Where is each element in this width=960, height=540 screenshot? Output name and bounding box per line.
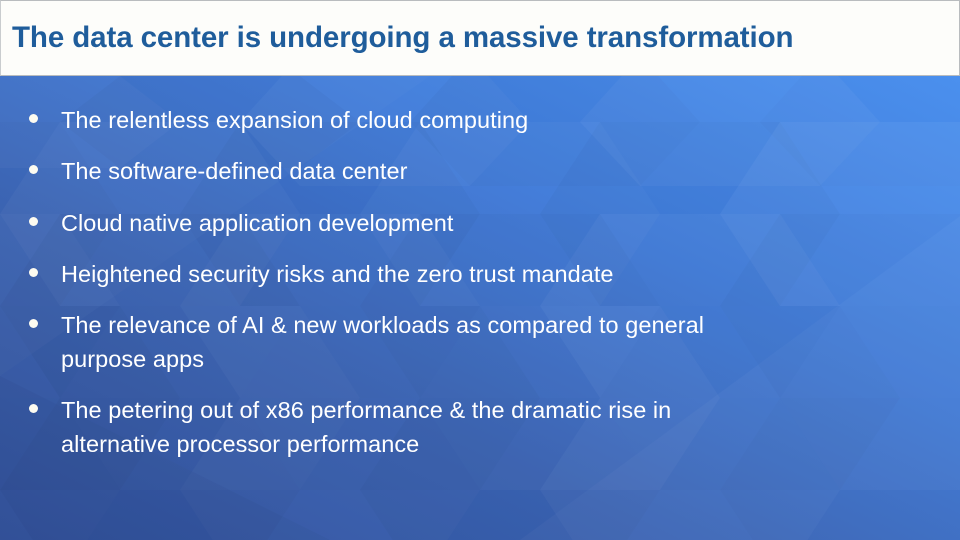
bullet-text: The petering out of x86 performance & th… bbox=[38, 394, 960, 461]
list-item: Heightened security risks and the zero t… bbox=[0, 258, 960, 291]
bullet-list: The relentless expansion of cloud comput… bbox=[0, 76, 960, 540]
slide-body: The relentless expansion of cloud comput… bbox=[0, 76, 960, 540]
bullet-text: The relevance of AI & new workloads as c… bbox=[38, 309, 960, 376]
bullet-dot-icon bbox=[29, 114, 38, 123]
bullet-line-2: alternative processor performance bbox=[61, 428, 860, 461]
list-item: The relentless expansion of cloud comput… bbox=[0, 104, 960, 137]
bullet-dot-icon bbox=[29, 217, 38, 226]
bullet-line-1: The software-defined data center bbox=[61, 155, 860, 188]
bullet-marker-cell bbox=[0, 394, 38, 413]
page-title: The data center is undergoing a massive … bbox=[1, 22, 793, 54]
bullet-dot-icon bbox=[29, 404, 38, 413]
bullet-line-1: Heightened security risks and the zero t… bbox=[61, 258, 860, 291]
list-item: The software-defined data center bbox=[0, 155, 960, 188]
bullet-text: The software-defined data center bbox=[38, 155, 960, 188]
bullet-marker-cell bbox=[0, 104, 38, 123]
bullet-line-1: The relentless expansion of cloud comput… bbox=[61, 104, 860, 137]
bullet-text: The relentless expansion of cloud comput… bbox=[38, 104, 960, 137]
bullet-marker-cell bbox=[0, 155, 38, 174]
list-item: Cloud native application development bbox=[0, 207, 960, 240]
slide-title-bar: The data center is undergoing a massive … bbox=[0, 0, 960, 76]
list-item: The petering out of x86 performance & th… bbox=[0, 394, 960, 461]
bullet-marker-cell bbox=[0, 309, 38, 328]
bullet-dot-icon bbox=[29, 319, 38, 328]
bullet-text: Heightened security risks and the zero t… bbox=[38, 258, 960, 291]
bullet-dot-icon bbox=[29, 165, 38, 174]
bullet-line-2: purpose apps bbox=[61, 343, 860, 376]
bullet-line-1: The petering out of x86 performance & th… bbox=[61, 394, 860, 427]
list-item: The relevance of AI & new workloads as c… bbox=[0, 309, 960, 376]
bullet-line-1: The relevance of AI & new workloads as c… bbox=[61, 309, 860, 342]
bullet-marker-cell bbox=[0, 258, 38, 277]
slide: The data center is undergoing a massive … bbox=[0, 0, 960, 540]
bullet-text: Cloud native application development bbox=[38, 207, 960, 240]
bullet-marker-cell bbox=[0, 207, 38, 226]
bullet-line-1: Cloud native application development bbox=[61, 207, 860, 240]
bullet-dot-icon bbox=[29, 268, 38, 277]
